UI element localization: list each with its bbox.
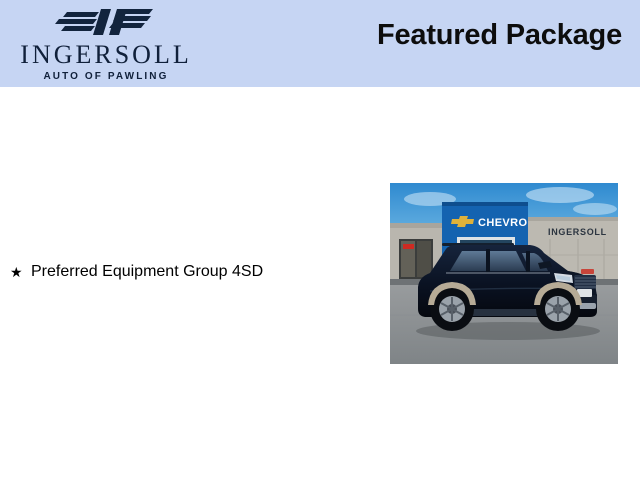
dealer-logo[interactable]: INGERSOLL AUTO OF PAWLING — [8, 4, 204, 84]
page-content: ★ Preferred Equipment Group 4SD — [0, 87, 640, 480]
page-title: Featured Package — [377, 18, 622, 52]
ingersoll-wing-emblem-icon — [55, 6, 153, 38]
vehicle-photo[interactable]: CHEVROLET INGERSOLL — [390, 183, 618, 364]
dealer-logo-tagline: AUTO OF PAWLING — [8, 71, 204, 83]
star-bullet-icon: ★ — [10, 262, 31, 282]
feature-list: ★ Preferred Equipment Group 4SD — [10, 262, 370, 287]
feature-label: Preferred Equipment Group 4SD — [31, 262, 370, 282]
page-header: INGERSOLL AUTO OF PAWLING Featured Packa… — [0, 0, 640, 87]
list-item: ★ Preferred Equipment Group 4SD — [10, 262, 370, 282]
dealer-logo-wordmark: INGERSOLL — [8, 40, 204, 70]
svg-text:INGERSOLL: INGERSOLL — [548, 227, 607, 237]
